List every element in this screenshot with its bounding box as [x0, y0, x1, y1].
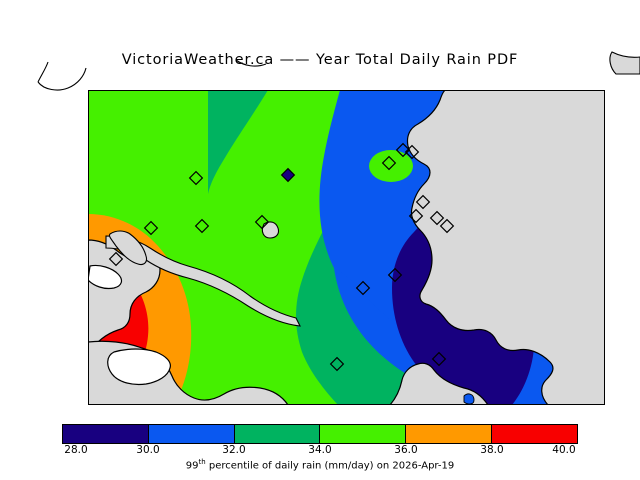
screenshot-root: VictoriaWeather.ca —— Year Total Daily R…: [0, 0, 640, 480]
bay-east: [262, 222, 278, 238]
contour-island-34-36: [369, 150, 413, 182]
colorbar-band-38-40[interactable]: [492, 425, 577, 443]
colorbar-tick-3: 34.0: [308, 444, 331, 456]
colorbar-tick-6: 40.0: [552, 444, 575, 456]
caption-prefix: 99: [186, 460, 199, 471]
colorbar-bands[interactable]: [62, 424, 578, 444]
colorbar-tick-2: 32.0: [222, 444, 245, 456]
caption-superscript: th: [199, 458, 206, 466]
colorbar-tick-0: 28.0: [64, 444, 87, 456]
colorbar-band-32-34[interactable]: [235, 425, 321, 443]
rain-contour-map[interactable]: [88, 90, 605, 405]
page-title: VictoriaWeather.ca —— Year Total Daily R…: [0, 52, 640, 68]
map-plot-area[interactable]: [88, 90, 605, 405]
colorbar-tick-labels: 28.0 30.0 32.0 34.0 36.0 38.0 40.0: [62, 444, 578, 458]
colorbar-caption: 99th percentile of daily rain (mm/day) o…: [0, 458, 640, 471]
colorbar-band-30-32[interactable]: [149, 425, 235, 443]
water-inlet-southwest: [108, 349, 171, 385]
colorbar-tick-5: 38.0: [480, 444, 503, 456]
caption-suffix: percentile of daily rain (mm/day) on 202…: [206, 460, 455, 471]
colorbar-band-36-38[interactable]: [406, 425, 492, 443]
colorbar-band-34-36[interactable]: [320, 425, 406, 443]
colorbar-tick-1: 30.0: [136, 444, 159, 456]
colorbar-tick-4: 36.0: [394, 444, 417, 456]
colorbar-band-28-30[interactable]: [63, 425, 149, 443]
islet-blue: [464, 394, 474, 404]
colorbar[interactable]: [62, 424, 578, 444]
